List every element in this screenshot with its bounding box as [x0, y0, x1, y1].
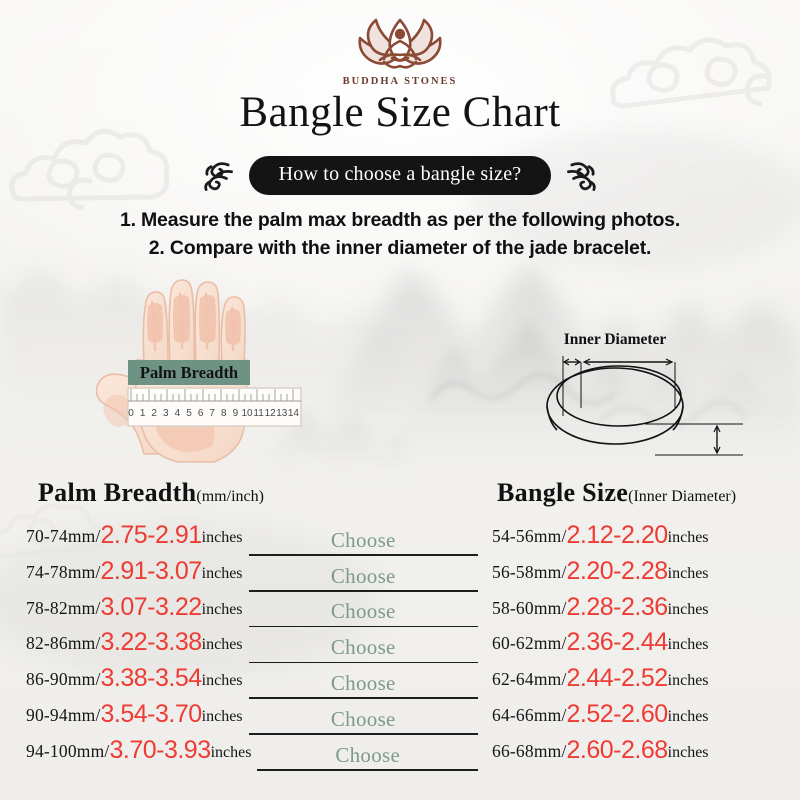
- ruler-tick-10: 10: [241, 408, 253, 419]
- size-inch-value: 2.91-3.07: [101, 559, 202, 584]
- table-row[interactable]: 74-78mm/2.91-3.07inchesChoose: [26, 558, 478, 594]
- size-unit-label: inches: [202, 565, 243, 583]
- instruction-step-1: 1. Measure the palm max breadth as per t…: [0, 206, 800, 234]
- ruler-tick-4: 4: [175, 408, 181, 419]
- size-chart-page: BUDDHA STONES Bangle Size Chart How to c…: [0, 0, 800, 800]
- ruler-tick-9: 9: [233, 408, 239, 419]
- size-inch-value: 3.22-3.38: [101, 630, 202, 655]
- bangle-size-section-header: Bangle Size(Inner Diameter): [497, 478, 736, 508]
- choose-cell[interactable]: Choose: [249, 528, 478, 558]
- size-mm-value: 54-56mm/: [492, 526, 567, 547]
- choose-cell[interactable]: Choose: [249, 635, 478, 665]
- table-row: 56-58mm/2.20-2.28inches: [492, 558, 792, 594]
- ruler-tick-6: 6: [198, 408, 204, 419]
- choose-underline: [249, 626, 478, 628]
- ruler-tick-14: 14: [288, 408, 300, 419]
- size-unit-label: inches: [668, 529, 709, 547]
- ruler-tick-8: 8: [221, 408, 227, 419]
- cloud-swirl-ornament-icon-right: [565, 158, 599, 194]
- choose-link[interactable]: Choose: [331, 707, 396, 732]
- ruler-tick-1: 1: [140, 408, 146, 419]
- choose-link[interactable]: Choose: [331, 671, 396, 696]
- table-row[interactable]: 70-74mm/2.75-2.91inchesChoose: [26, 522, 478, 558]
- cloud-swirl-ornament-icon-left: [201, 158, 235, 194]
- page-title: Bangle Size Chart: [0, 88, 800, 137]
- bangle-size-title: Bangle Size: [497, 478, 628, 507]
- size-mm-value: 90-94mm/: [26, 705, 101, 726]
- choose-cell[interactable]: Choose: [249, 707, 478, 737]
- ruler-tick-13: 13: [276, 408, 288, 419]
- ruler-tick-5: 5: [186, 408, 192, 419]
- table-row[interactable]: 90-94mm/3.54-3.70inchesChoose: [26, 701, 478, 737]
- size-inch-value: 2.20-2.28: [567, 559, 668, 584]
- size-mm-value: 82-86mm/: [26, 633, 101, 654]
- size-unit-label: inches: [202, 636, 243, 654]
- ruler-tick-3: 3: [163, 408, 169, 419]
- size-inch-value: 2.75-2.91: [101, 523, 202, 548]
- brand-name: BUDDHA STONES: [343, 76, 458, 87]
- size-mm-value: 56-58mm/: [492, 562, 567, 583]
- instruction-list: 1. Measure the palm max breadth as per t…: [0, 206, 800, 263]
- size-inch-value: 2.12-2.20: [567, 523, 668, 548]
- size-mm-value: 74-78mm/: [26, 562, 101, 583]
- table-row: 64-66mm/2.52-2.60inches: [492, 701, 792, 737]
- size-inch-value: 2.52-2.60: [567, 702, 668, 727]
- size-inch-value: 3.07-3.22: [101, 595, 202, 620]
- choose-underline: [249, 662, 478, 664]
- palm-breadth-table: 70-74mm/2.75-2.91inchesChoose74-78mm/2.9…: [26, 522, 478, 773]
- brand-logo: BUDDHA STONES: [0, 12, 800, 87]
- size-mm-value: 60-62mm/: [492, 633, 567, 654]
- size-unit-label: inches: [202, 601, 243, 619]
- size-mm-value: 66-68mm/: [492, 741, 567, 762]
- open-palm-hand-illustration: Palm Breadth 0123456789: [96, 268, 311, 473]
- bangle-size-unit-note: (Inner Diameter): [628, 488, 736, 505]
- lotus-meditation-icon: [336, 12, 464, 74]
- size-inch-value: 2.60-2.68: [567, 738, 668, 763]
- size-unit-label: inches: [668, 565, 709, 583]
- size-mm-value: 62-64mm/: [492, 669, 567, 690]
- choose-underline: [249, 697, 478, 699]
- choose-underline: [249, 590, 478, 592]
- choose-underline: [249, 554, 478, 556]
- choose-link[interactable]: Choose: [331, 564, 396, 589]
- size-unit-label: inches: [668, 672, 709, 690]
- ruler-tick-0: 0: [128, 408, 134, 419]
- choose-link[interactable]: Choose: [335, 743, 400, 768]
- choose-cell[interactable]: Choose: [249, 564, 478, 594]
- bangle-size-table: 54-56mm/2.12-2.20inches56-58mm/2.20-2.28…: [492, 522, 792, 773]
- size-unit-label: inches: [668, 601, 709, 619]
- bangle-ring-diagram: Inner Diameter: [505, 328, 760, 473]
- size-mm-value: 94-100mm/: [26, 741, 109, 762]
- size-inch-value: 3.70-3.93: [109, 738, 210, 763]
- size-unit-label: inches: [668, 708, 709, 726]
- palm-breadth-title: Palm Breadth: [38, 478, 196, 507]
- choose-underline: [257, 769, 478, 771]
- banner-row: How to choose a bangle size?: [0, 156, 800, 195]
- how-to-choose-banner: How to choose a bangle size?: [249, 156, 552, 195]
- ruler-tick-11: 11: [253, 408, 264, 419]
- size-inch-value: 3.38-3.54: [101, 666, 202, 691]
- table-row[interactable]: 78-82mm/3.07-3.22inchesChoose: [26, 594, 478, 630]
- palm-breadth-badge-label: Palm Breadth: [140, 363, 238, 382]
- choose-link[interactable]: Choose: [331, 528, 396, 553]
- instruction-step-2: 2. Compare with the inner diameter of th…: [0, 234, 800, 262]
- ruler-tick-2: 2: [151, 408, 157, 419]
- table-row: 58-60mm/2.28-2.36inches: [492, 594, 792, 630]
- size-mm-value: 58-60mm/: [492, 598, 567, 619]
- choose-underline: [249, 733, 478, 735]
- size-inch-value: 2.44-2.52: [567, 666, 668, 691]
- size-mm-value: 78-82mm/: [26, 598, 101, 619]
- ruler-icon: 01234567891011121314: [128, 388, 301, 426]
- palm-breadth-unit-note: (mm/inch): [196, 488, 264, 505]
- table-row[interactable]: 86-90mm/3.38-3.54inchesChoose: [26, 665, 478, 701]
- size-unit-label: inches: [202, 708, 243, 726]
- size-unit-label: inches: [668, 744, 709, 762]
- table-row[interactable]: 82-86mm/3.22-3.38inchesChoose: [26, 629, 478, 665]
- table-row: 60-62mm/2.36-2.44inches: [492, 629, 792, 665]
- size-unit-label: inches: [202, 529, 243, 547]
- size-unit-label: inches: [211, 744, 252, 762]
- size-unit-label: inches: [668, 636, 709, 654]
- size-mm-value: 86-90mm/: [26, 669, 101, 690]
- table-row: 62-64mm/2.44-2.52inches: [492, 665, 792, 701]
- choose-link[interactable]: Choose: [331, 599, 396, 624]
- choose-cell[interactable]: Choose: [257, 743, 478, 773]
- choose-cell[interactable]: Choose: [249, 599, 478, 629]
- palm-breadth-badge: Palm Breadth: [128, 360, 250, 385]
- size-inch-value: 2.28-2.36: [567, 595, 668, 620]
- table-row: 54-56mm/2.12-2.20inches: [492, 522, 792, 558]
- size-unit-label: inches: [202, 672, 243, 690]
- choose-link[interactable]: Choose: [331, 635, 396, 660]
- inner-diameter-label: Inner Diameter: [564, 331, 667, 348]
- palm-breadth-section-header: Palm Breadth(mm/inch): [38, 478, 264, 508]
- size-mm-value: 70-74mm/: [26, 526, 101, 547]
- size-inch-value: 3.54-3.70: [101, 702, 202, 727]
- table-row[interactable]: 94-100mm/3.70-3.93inchesChoose: [26, 737, 478, 773]
- ruler-tick-12: 12: [265, 408, 277, 419]
- ruler-tick-7: 7: [209, 408, 215, 419]
- size-mm-value: 64-66mm/: [492, 705, 567, 726]
- table-row: 66-68mm/2.60-2.68inches: [492, 737, 792, 773]
- choose-cell[interactable]: Choose: [249, 671, 478, 701]
- size-inch-value: 2.36-2.44: [567, 630, 668, 655]
